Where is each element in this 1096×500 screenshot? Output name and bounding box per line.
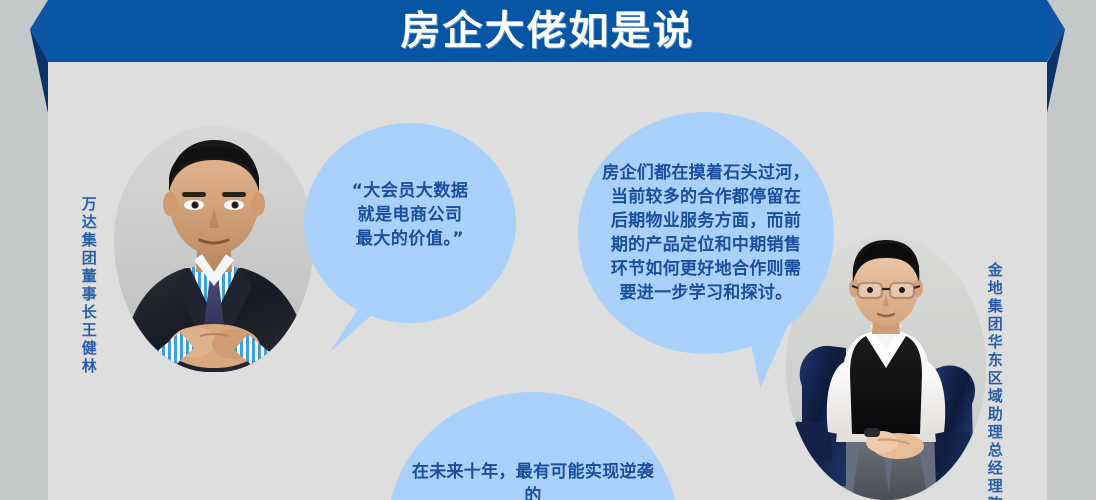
speech-bubble-wang-jianlin: “大会员大数据 就是电商公司 最大的价值。” [304,123,516,323]
speech-bubble-bottom: 在未来十年，最有可能实现逆袭的 [388,392,678,500]
speech-bubble-text: 在未来十年，最有可能实现逆袭的 [388,392,678,500]
speech-bubble-text: “大会员大数据 就是电商公司 最大的价值。” [338,179,483,267]
page-title: 房企大佬如是说 [48,0,1047,62]
speaker-photo-wang-jianlin [114,126,314,372]
ribbon-banner: 房企大佬如是说 [0,0,1096,110]
speaker-caption-jindi-chen: 金地集团华东区域助理总经理陈某 [986,262,1002,500]
speaker-caption-wang-jianlin: 万达集团董事长王健林 [80,196,96,376]
infographic-stage: 房企大佬如是说 万达集团董事长王健林 [0,0,1096,500]
speech-bubble-jindi-chen: 房企们都在摸着石头过河， 当前较多的合作都停留在 后期物业服务方面，而前 期的产… [578,112,834,354]
speech-bubble-text: 房企们都在摸着石头过河， 当前较多的合作都停留在 后期物业服务方面，而前 期的产… [586,161,826,306]
